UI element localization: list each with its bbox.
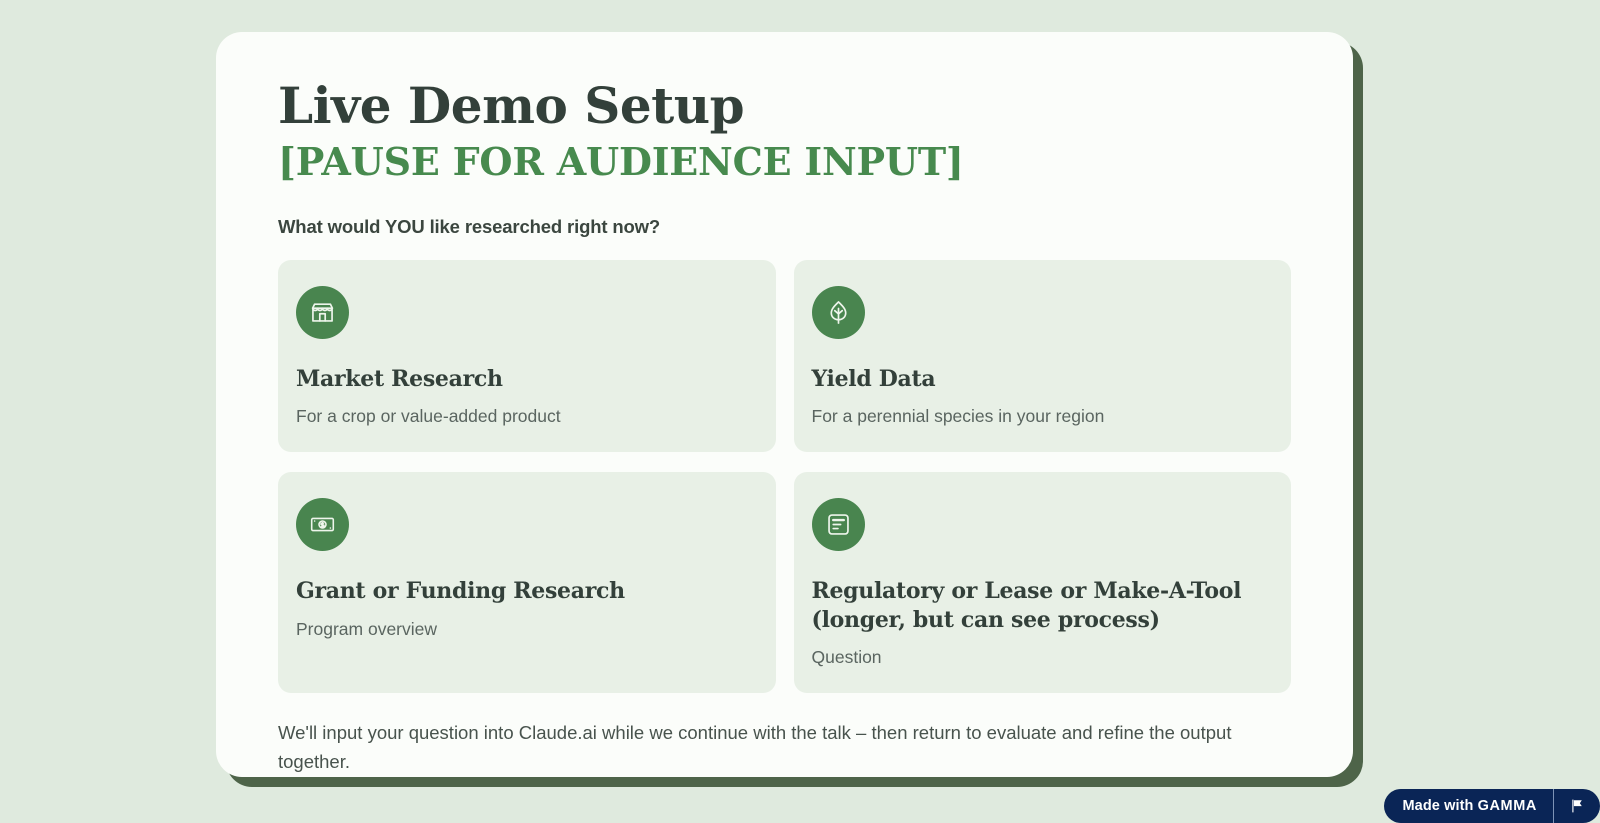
option-card-description: Question xyxy=(812,645,1292,670)
slide-footnote: We'll input your question into Claude.ai… xyxy=(278,719,1278,776)
option-card-grid: Market Research For a crop or value-adde… xyxy=(278,260,1291,693)
option-card-market-research[interactable]: Market Research For a crop or value-adde… xyxy=(278,260,776,453)
option-card-title: Market Research xyxy=(296,365,776,393)
gamma-badge-prefix: Made with xyxy=(1402,798,1477,814)
option-card-grant-funding-research[interactable]: Grant or Funding Research Program overvi… xyxy=(278,472,776,693)
document-lines-icon xyxy=(812,498,865,551)
audience-prompt: What would YOU like researched right now… xyxy=(278,216,1291,238)
slide-stage: Live Demo Setup [PAUSE FOR AUDIENCE INPU… xyxy=(216,32,1353,777)
option-card-title: Grant or Funding Research xyxy=(296,577,776,605)
option-card-description: Program overview xyxy=(296,617,776,642)
presentation-slide: Live Demo Setup [PAUSE FOR AUDIENCE INPU… xyxy=(216,32,1353,777)
option-card-description: For a perennial species in your region xyxy=(812,404,1292,429)
option-card-title: Regulatory or Lease or Make-A-Tool (long… xyxy=(812,577,1292,633)
banknote-dollar-icon xyxy=(296,498,349,551)
page-subtitle: [PAUSE FOR AUDIENCE INPUT] xyxy=(278,140,1291,185)
gamma-badge-label: Made with GAMMA xyxy=(1384,798,1553,814)
option-card-regulatory-lease-maketool[interactable]: Regulatory or Lease or Make-A-Tool (long… xyxy=(794,472,1292,693)
option-card-title: Yield Data xyxy=(812,365,1292,393)
page-title: Live Demo Setup xyxy=(278,78,1291,134)
storefront-icon xyxy=(296,286,349,339)
gamma-brand-wordmark: GAMMA xyxy=(1478,798,1537,814)
option-card-yield-data[interactable]: Yield Data For a perennial species in yo… xyxy=(794,260,1292,453)
made-with-gamma-badge[interactable]: Made with GAMMA xyxy=(1384,789,1600,823)
leaf-icon xyxy=(812,286,865,339)
option-card-description: For a crop or value-added product xyxy=(296,404,776,429)
flag-icon[interactable] xyxy=(1554,798,1600,814)
